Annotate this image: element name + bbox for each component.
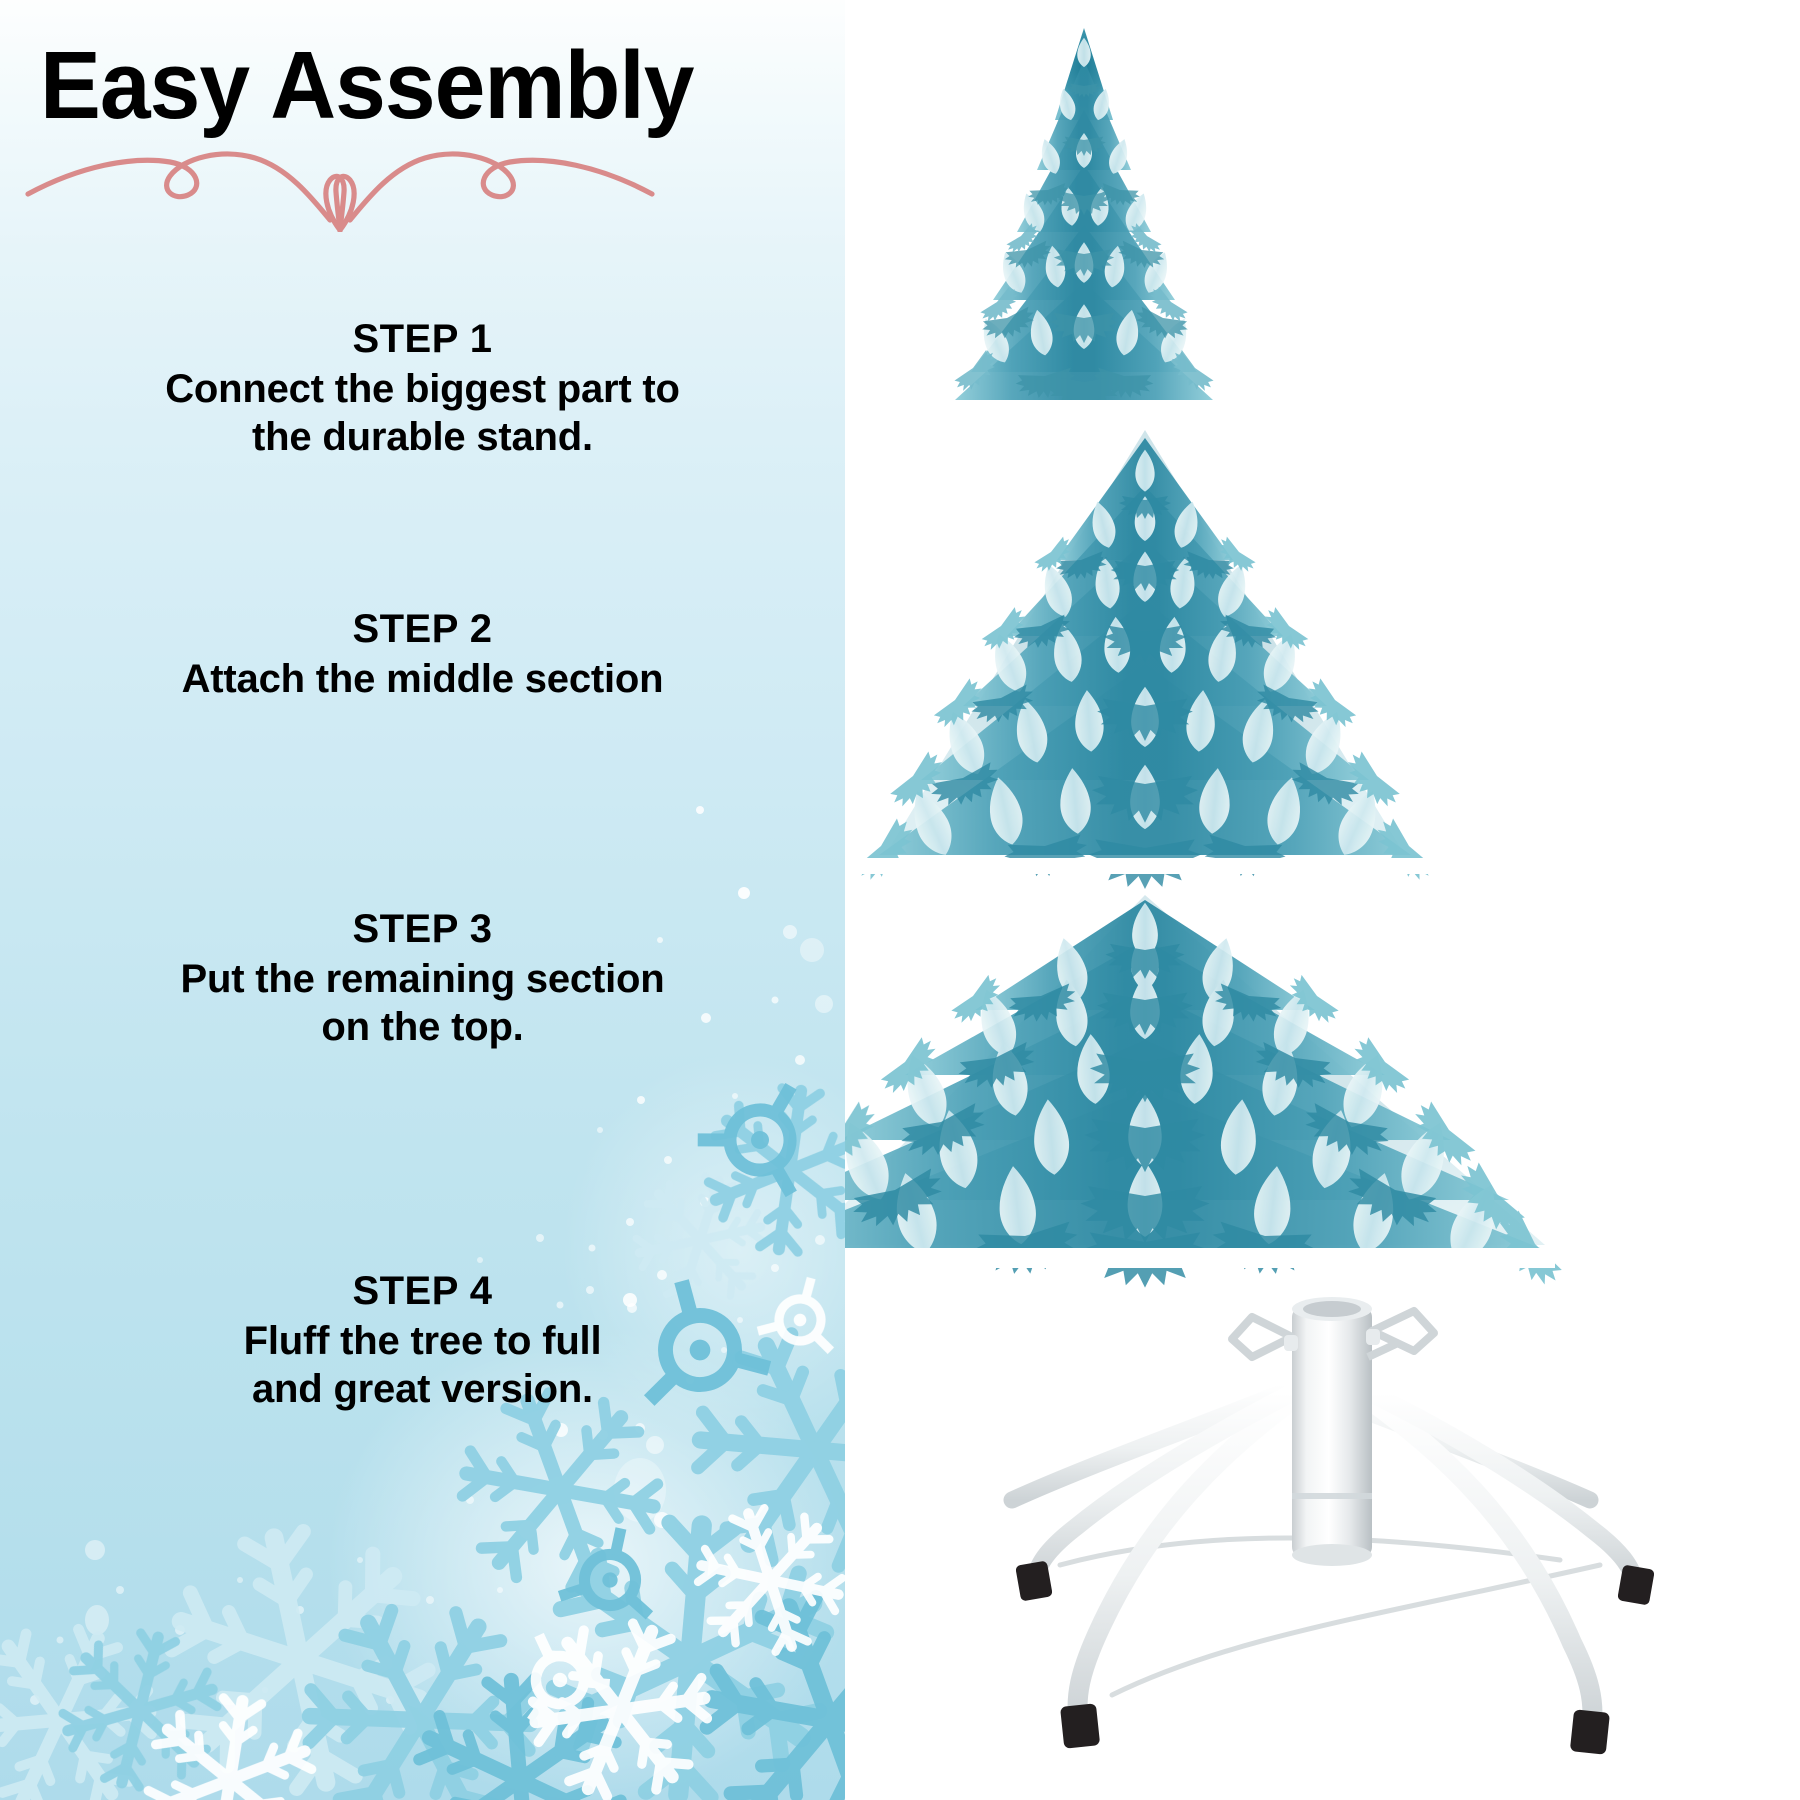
step-3-body-line-2: on the top.	[0, 1003, 845, 1051]
step-4-body-line-2: and great version.	[0, 1365, 845, 1413]
flourish-heart-ornament-icon	[20, 132, 660, 232]
tree-middle-section	[854, 430, 1445, 890]
stand-foot-cap	[1015, 1560, 1053, 1601]
infographic-page: Easy Assembly	[0, 0, 1800, 1800]
stand-leg-mid-right	[1370, 1393, 1655, 1606]
step-3-title: STEP 3	[0, 908, 845, 951]
step-2-body-line-1: Attach the middle section	[0, 655, 845, 703]
tree-stand	[900, 1265, 1690, 1800]
stand-center-tube	[1292, 1297, 1372, 1566]
instructions-panel: Easy Assembly	[0, 0, 845, 1800]
step-1-title: STEP 1	[0, 318, 845, 361]
step-1-block: STEP 1 Connect the biggest part to the d…	[0, 318, 845, 461]
tree-top-section	[935, 10, 1235, 414]
stand-foot-cap	[1570, 1709, 1610, 1755]
step-2-title: STEP 2	[0, 608, 845, 651]
step-4-title: STEP 4	[0, 1270, 845, 1313]
step-4-block: STEP 4 Fluff the tree to full and great …	[0, 1270, 845, 1413]
product-image-panel	[845, 0, 1800, 1800]
step-2-block: STEP 2 Attach the middle section	[0, 608, 845, 703]
step-4-body-line-1: Fluff the tree to full	[0, 1317, 845, 1365]
step-3-body-line-1: Put the remaining section	[0, 955, 845, 1003]
step-1-body-line-1: Connect the biggest part to	[0, 365, 845, 413]
step-3-block: STEP 3 Put the remaining section on the …	[0, 908, 845, 1051]
step-1-body-line-2: the durable stand.	[0, 413, 845, 461]
stand-foot-cap	[1060, 1703, 1100, 1749]
stand-leg-mid-left	[1015, 1393, 1292, 1602]
page-title: Easy Assembly	[40, 38, 693, 134]
tree-bottom-section	[845, 895, 1565, 1296]
snow-dots-decoration	[0, 0, 845, 1800]
stand-foot-cap	[1617, 1564, 1655, 1605]
